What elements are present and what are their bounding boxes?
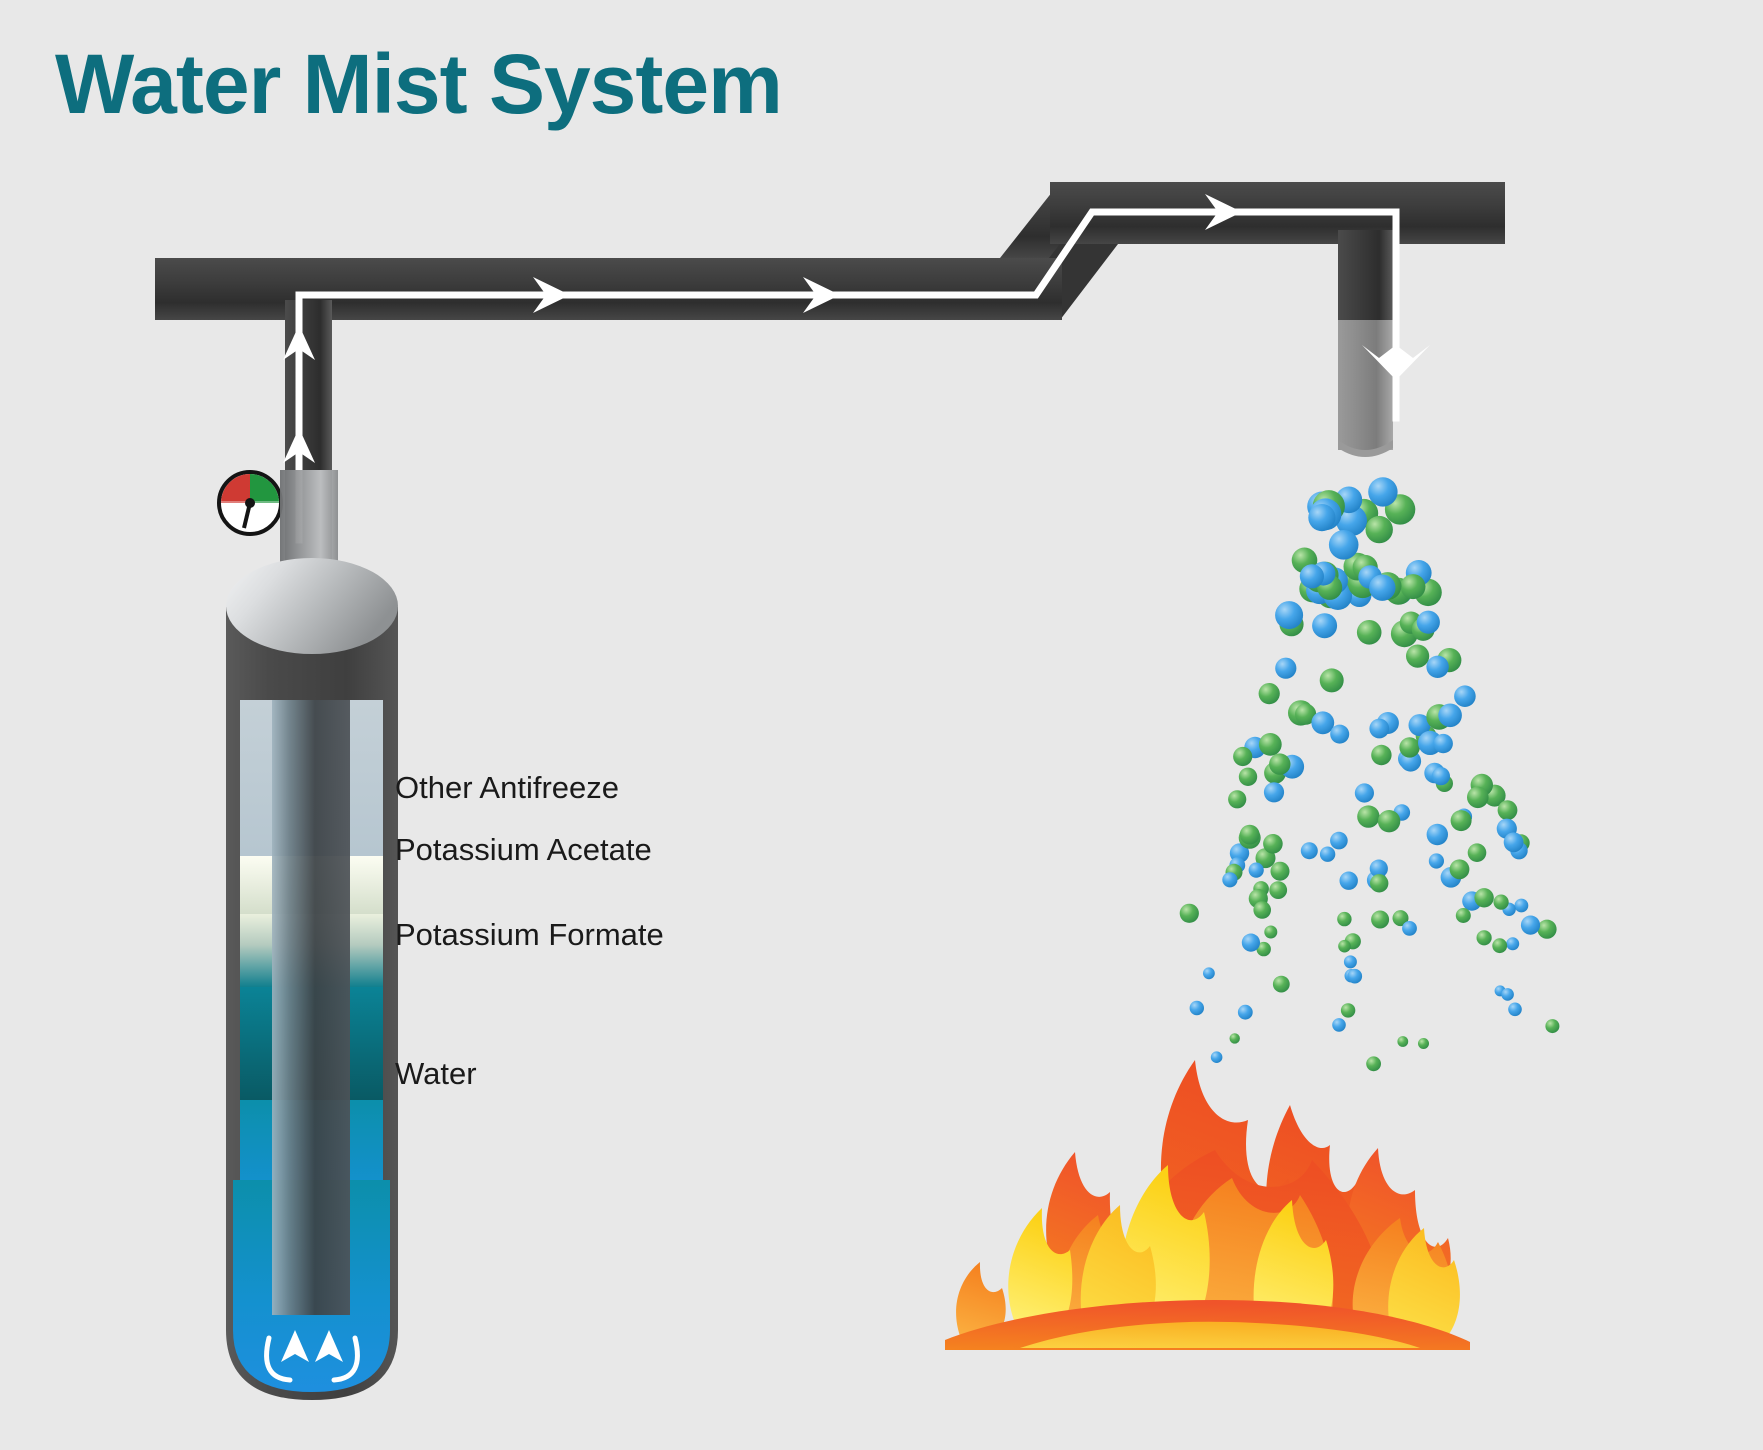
mist-droplet (1249, 863, 1264, 878)
mist-droplet (1264, 782, 1284, 802)
mist-droplet (1308, 504, 1335, 531)
mist-droplet (1468, 843, 1487, 862)
mist-droplet (1275, 601, 1303, 629)
mist-droplet (1355, 783, 1374, 802)
mist-droplet (1427, 824, 1448, 845)
mist-droplet (1344, 955, 1357, 968)
mist-droplet (1190, 1001, 1204, 1015)
mist-droplet (1477, 930, 1492, 945)
mist-droplet (1238, 1005, 1253, 1020)
mist-droplet (1426, 656, 1448, 678)
mist-droplet (1406, 645, 1429, 668)
mist-droplet (1494, 895, 1509, 910)
pipe-network (155, 182, 1505, 600)
mist-droplet (1501, 988, 1514, 1001)
mist-droplet (1545, 1019, 1559, 1033)
mist-droplet (1357, 805, 1379, 827)
mist-droplet (1180, 904, 1199, 923)
label-water: Water (395, 1056, 477, 1092)
mist-droplet (1348, 969, 1363, 984)
mist-droplet (1506, 937, 1519, 950)
mist-droplet (1273, 976, 1290, 993)
mist-droplet (1228, 790, 1246, 808)
mist-droplet (1492, 938, 1507, 953)
storage-tank (226, 470, 398, 1400)
mist-droplet (1402, 921, 1417, 936)
mist-droplet (1269, 881, 1287, 899)
tank-cap (226, 558, 398, 654)
mist-droplet (1454, 685, 1476, 707)
mist-droplet (1369, 575, 1395, 601)
mist-droplet (1467, 787, 1489, 809)
mist-droplet (1434, 734, 1453, 753)
mist-droplet (1222, 872, 1237, 887)
fire-graphic (945, 1060, 1470, 1350)
mist-droplet (1242, 934, 1260, 952)
mist-droplet (1203, 967, 1215, 979)
mist-droplet (1371, 911, 1389, 929)
mist-droplet (1370, 874, 1388, 892)
mist-droplet (1330, 832, 1348, 850)
mist-droplet (1269, 753, 1290, 774)
mist-droplet (1456, 908, 1471, 923)
mist-droplet (1432, 767, 1450, 785)
mist-droplet (1330, 725, 1349, 744)
mist-droplet (1338, 940, 1351, 953)
mist-droplet (1399, 737, 1419, 757)
mist-droplet (1537, 920, 1556, 939)
mist-droplet (1378, 810, 1400, 832)
mist-droplet (1366, 1056, 1381, 1071)
mist-droplet (1239, 768, 1257, 786)
mist-droplet (1515, 899, 1529, 913)
mist-droplet (1259, 733, 1282, 756)
mist-droplet (1418, 1038, 1429, 1049)
mist-droplet (1275, 658, 1296, 679)
mist-droplet (1320, 668, 1344, 692)
mist-droplet (1230, 1033, 1240, 1043)
mist-droplet (1401, 574, 1426, 599)
mist-droplet (1263, 834, 1283, 854)
mist-droplet (1438, 704, 1462, 728)
mist-droplet (1311, 711, 1334, 734)
mist-droplet (1340, 872, 1358, 890)
mist-droplet (1474, 888, 1493, 907)
mist-droplet (1300, 564, 1324, 588)
pressure-gauge (219, 472, 281, 534)
mist-droplet (1337, 912, 1351, 926)
mist-droplet (1233, 747, 1252, 766)
mist-droplet (1329, 530, 1359, 560)
mist-droplet (1341, 1003, 1355, 1017)
pipe-downcomer-right (1338, 230, 1393, 325)
water-mist-system-illustration (0, 0, 1763, 1450)
mist-droplet (1211, 1051, 1223, 1063)
mist-droplet (1369, 719, 1389, 739)
mist-droplet (1521, 916, 1540, 935)
mist-droplet (1508, 1003, 1522, 1017)
mist-droplet (1301, 842, 1318, 859)
mist-droplet (1240, 825, 1260, 845)
mist-droplet (1371, 745, 1391, 765)
label-other-antifreeze: Other Antifreeze (395, 770, 619, 806)
mist-droplet (1498, 800, 1518, 820)
water-mist-droplets (1180, 477, 1560, 1071)
mist-droplet (1504, 832, 1524, 852)
mist-nozzle (1338, 320, 1393, 450)
diagram-canvas: Water Mist System (0, 0, 1763, 1450)
mist-droplet (1397, 1036, 1408, 1047)
mist-droplet (1357, 620, 1382, 645)
mist-droplet (1417, 611, 1440, 634)
mist-droplet (1451, 810, 1472, 831)
mist-droplet (1366, 516, 1393, 543)
mist-droplet (1259, 683, 1280, 704)
label-potassium-formate: Potassium Formate (395, 917, 664, 953)
mist-droplet (1264, 926, 1277, 939)
mist-droplet (1332, 1018, 1346, 1032)
mist-droplet (1271, 862, 1290, 881)
mist-droplet (1253, 901, 1271, 919)
mist-droplet (1320, 847, 1335, 862)
mist-droplet (1429, 853, 1444, 868)
tank-dip-tube (272, 700, 350, 1315)
mist-droplet (1368, 477, 1397, 506)
mist-droplet (1450, 859, 1470, 879)
label-potassium-acetate: Potassium Acetate (395, 832, 652, 868)
mist-droplet (1312, 613, 1337, 638)
